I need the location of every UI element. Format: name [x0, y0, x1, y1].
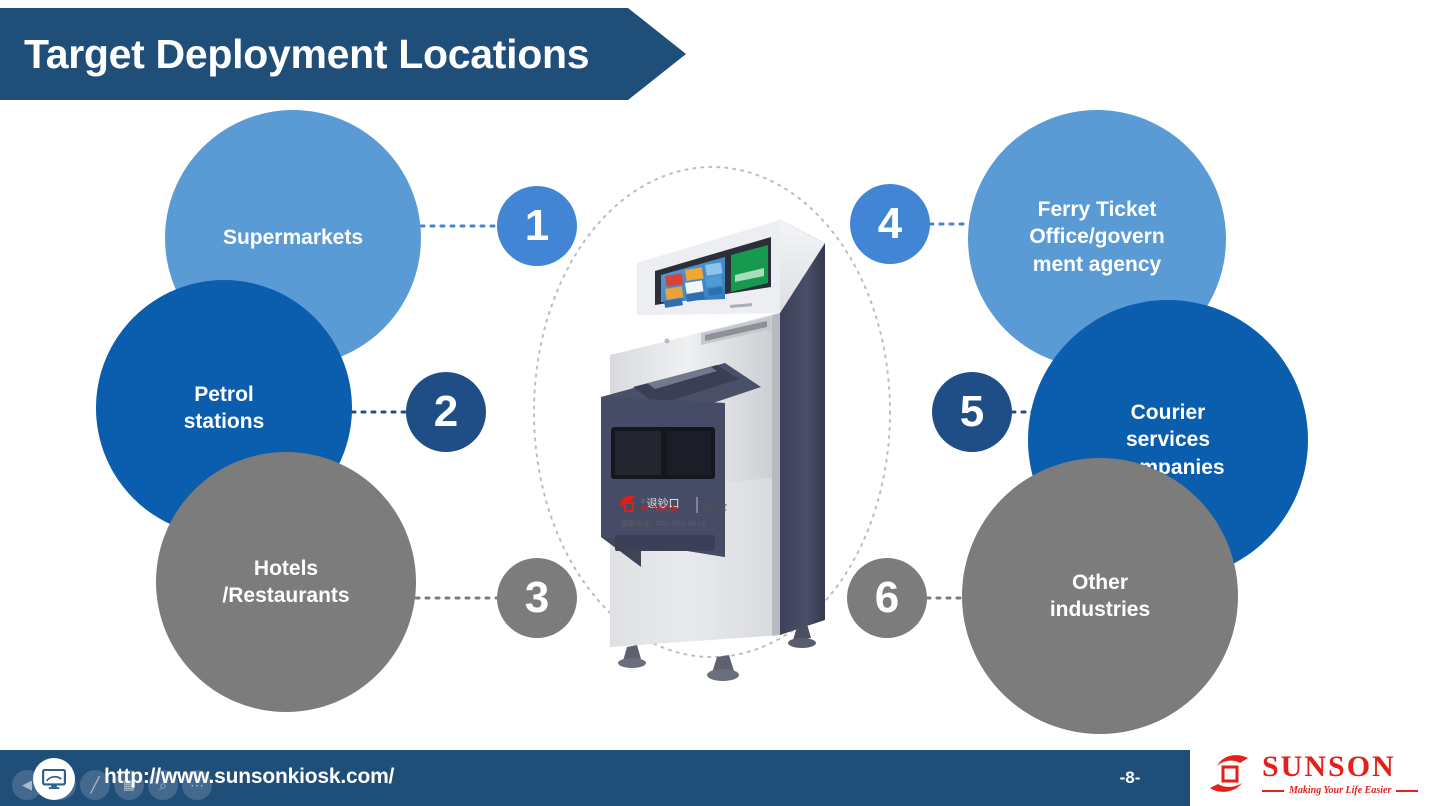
- tagline-rule-left: [1262, 790, 1284, 792]
- badge-1-label: 1: [525, 201, 549, 251]
- slide-title-banner: Target Deployment Locations: [0, 8, 686, 100]
- sunson-logo: SUNSON Making Your Life Easier: [1190, 742, 1440, 806]
- bubble-other-industries[interactable]: Otherindustries: [962, 458, 1238, 734]
- slide-overview-icon[interactable]: ▦: [114, 770, 144, 800]
- bubble-label-other-industries: Otherindustries: [1042, 569, 1158, 624]
- badge-2[interactable]: 2: [406, 372, 486, 452]
- badge-5[interactable]: 5: [932, 372, 1012, 452]
- badge-6[interactable]: 6: [847, 558, 927, 638]
- sunson-logo-mark: [1204, 750, 1256, 798]
- svg-text:取钞宝: 取钞宝: [703, 502, 727, 512]
- tagline-text: Making Your Life Easier: [1289, 785, 1391, 796]
- svg-text:SUNSON: SUNSON: [641, 504, 678, 514]
- sunson-logo-name: SUNSON: [1262, 752, 1418, 782]
- pen-tool-icon[interactable]: ╱: [80, 770, 110, 800]
- kiosk-machine-image: 退钞口 新手科技® SUNSON 取钞宝 客服电话：400-960-9818: [575, 165, 850, 685]
- bubble-label-petrol-stations: Petrolstations: [176, 381, 273, 436]
- badge-2-label: 2: [434, 387, 458, 437]
- bubble-hotels-restaurants[interactable]: Hotels/Restaurants: [156, 452, 416, 712]
- badge-1[interactable]: 1: [497, 186, 577, 266]
- bubble-label-ferry-ticket-office: Ferry TicketOffice/government agency: [1021, 196, 1172, 278]
- page-title: Target Deployment Locations: [24, 31, 589, 78]
- badge-5-label: 5: [960, 387, 984, 437]
- bubble-label-supermarkets: Supermarkets: [215, 224, 371, 251]
- presenter-monitor-icon[interactable]: [33, 758, 75, 800]
- badge-3-label: 3: [525, 573, 549, 623]
- badge-6-label: 6: [875, 573, 899, 623]
- monitor-glyph: [42, 769, 66, 789]
- svg-text:客服电话：400-960-9818: 客服电话：400-960-9818: [621, 519, 706, 528]
- zoom-tool-icon[interactable]: ⌕: [148, 770, 178, 800]
- badge-4[interactable]: 4: [850, 184, 930, 264]
- page-number: -8-: [1090, 768, 1170, 788]
- badge-3[interactable]: 3: [497, 558, 577, 638]
- badge-4-label: 4: [878, 199, 902, 249]
- sunson-logo-words: SUNSON Making Your Life Easier: [1262, 752, 1418, 796]
- slide-canvas: Target Deployment Locations Supermarkets…: [0, 0, 1440, 806]
- sunson-logo-tagline: Making Your Life Easier: [1262, 785, 1418, 796]
- more-options-icon[interactable]: ⋯: [182, 770, 212, 800]
- tagline-rule-right: [1396, 790, 1418, 792]
- bubble-label-hotels-restaurants: Hotels/Restaurants: [214, 555, 357, 610]
